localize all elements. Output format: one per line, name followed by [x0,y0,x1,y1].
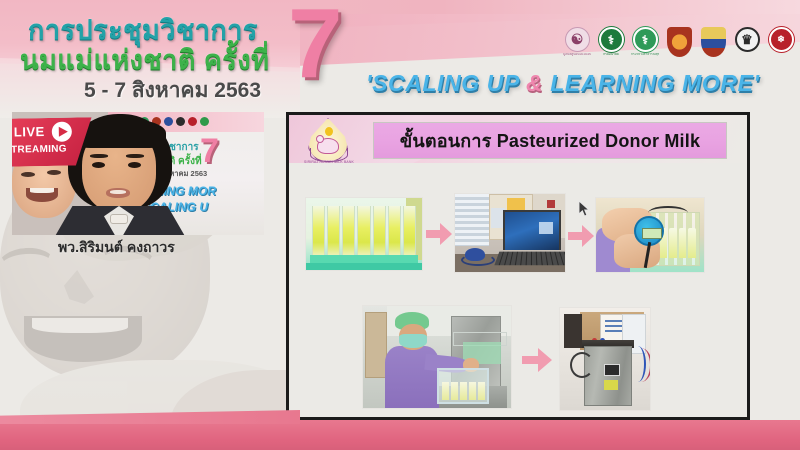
photo-laptop-workstation [454,193,566,273]
thai-health-promotion-logo: ⚕ กรมอนามัย [597,27,625,63]
streaming-label: STREAMING [12,144,67,156]
bottom-pink-band [0,420,800,450]
ministry-of-public-health-logo: ⚕ กระทรวงสาธารณสุข [631,27,659,63]
conference-date-range: 5 - 7 สิงหาคม 2563 [84,74,261,107]
tagline-ampersand: & [526,70,543,96]
royal-college-logo [665,27,693,63]
photo-milk-bottles-rack [305,197,423,271]
red-institute-logo: ❄ [767,27,795,63]
arrow-step-4-to-5 [522,348,552,372]
speaker-name: พว.สิริมนต์ คงถาวร [58,237,175,259]
play-icon [52,122,72,142]
conference-tagline: 'SCALING UP & LEARNING MORE' [366,70,760,97]
video-overlay-edition: 7 [200,134,219,168]
arrow-step-2-to-3 [568,225,594,247]
breastfeeding-foundation-logo: ☯ มูลนิธิศูนย์นมแม่แห่งประเทศไทย [563,27,591,63]
photo-digital-thermometer [595,197,705,273]
slide-title: ขั้นตอนการ Pasteurized Donor Milk [400,126,700,155]
tagline-prefix: 'SCALING UP [366,70,526,96]
slide-header: SIRIRAJ HUMAN MILK BANK ขั้นตอนการ Paste… [289,115,747,169]
tagline-suffix: LEARNING MORE' [543,70,759,96]
royal-emblem-logo [699,27,727,63]
human-milk-bank-logo: SIRIRAJ HUMAN MILK BANK [301,118,357,168]
conference-edition-number: 7 [288,0,343,92]
photo-nurse-loading-bottles [362,305,512,409]
mouse-cursor [578,200,590,218]
slide-broadcast-screen: การประชุมวิชาการ นมแม่แห่งชาติ ครั้งที่ … [0,0,800,450]
live-label: LIVE [14,124,45,140]
slide-title-banner: ขั้นตอนการ Pasteurized Donor Milk [373,122,727,159]
photo-pasteurizer-machine [559,307,651,411]
arrow-step-1-to-2 [426,223,452,245]
live-stream-video-inset[interactable]: การประชุมวิชาการ นมแม่แห่งชาติ ครั้งที่ … [12,112,264,235]
presentation-slide-panel: SIRIRAJ HUMAN MILK BANK ขั้นตอนการ Paste… [286,112,750,420]
nursing-council-logo: ♛ [733,27,761,63]
sponsor-logos-strip: ☯ มูลนิธิศูนย์นมแม่แห่งประเทศไทย ⚕ กรมอน… [563,27,800,63]
